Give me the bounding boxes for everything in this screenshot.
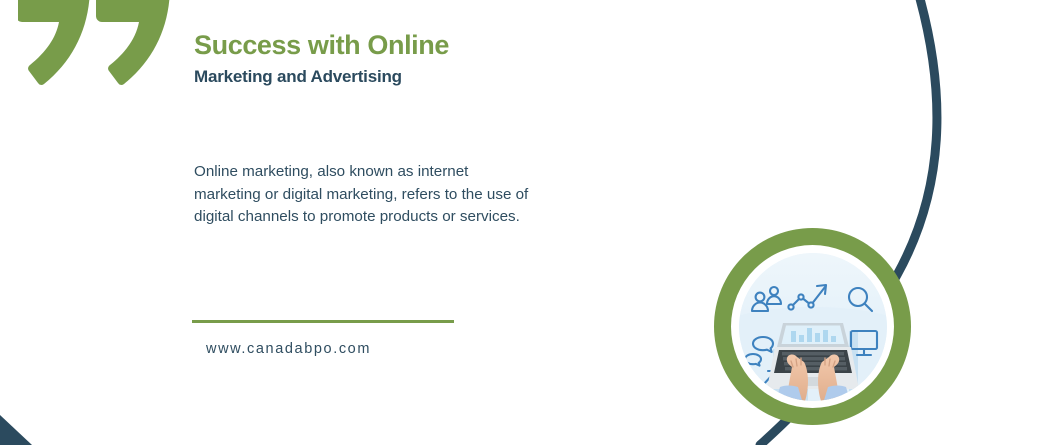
laptop-illustration xyxy=(767,323,859,389)
divider xyxy=(192,320,454,323)
circular-image-badge xyxy=(714,228,911,425)
laptop-photo xyxy=(739,253,887,401)
website-url[interactable]: www.canadabpo.com xyxy=(206,341,371,357)
marketing-banner: Success with Online Marketing and Advert… xyxy=(0,0,1040,445)
quotation-mark-icon xyxy=(18,0,170,98)
heading-block: Success with Online Marketing and Advert… xyxy=(194,30,449,87)
corner-triangle xyxy=(0,415,32,445)
circle-white-ring xyxy=(731,245,894,408)
page-subtitle: Marketing and Advertising xyxy=(194,66,449,87)
body-paragraph: Online marketing, also known as internet… xyxy=(194,161,530,229)
page-title: Success with Online xyxy=(194,30,449,62)
